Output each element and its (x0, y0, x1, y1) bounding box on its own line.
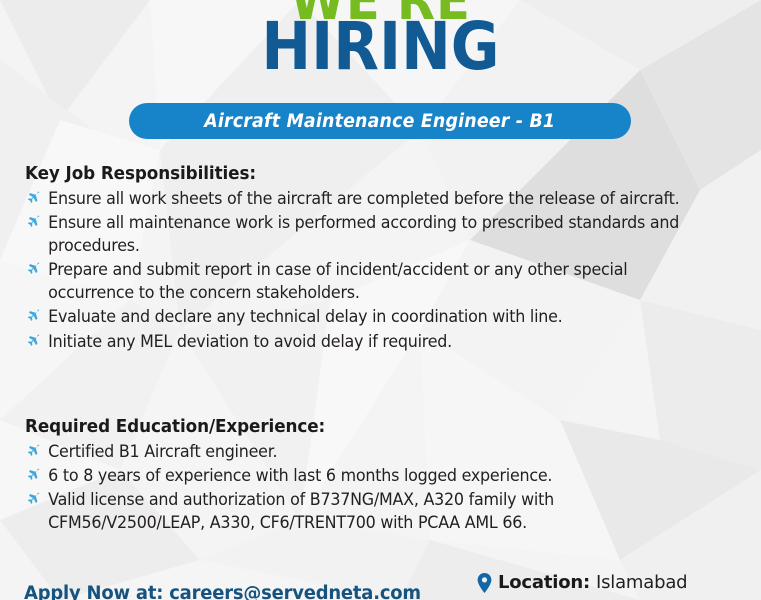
airplane-icon (26, 467, 41, 483)
section-heading: Key Job Responsibilities: (25, 164, 709, 184)
list-item: Ensure all maintenance work is performed… (25, 211, 712, 257)
job-poster: WE'RE HIRING Aircraft Maintenance Engine… (0, 0, 761, 600)
location-value: Islamabad (596, 572, 687, 593)
list-item-text: Ensure all work sheets of the aircraft a… (48, 189, 679, 208)
airplane-icon (26, 333, 41, 349)
airplane-icon (26, 190, 41, 206)
airplane-icon (26, 491, 41, 507)
list-item: Evaluate and declare any technical delay… (25, 305, 712, 328)
airplane-icon (26, 214, 41, 230)
responsibilities-list: Ensure all work sheets of the aircraft a… (25, 187, 737, 353)
list-item-text: Valid license and authorization of B737N… (48, 490, 554, 532)
airplane-icon (26, 308, 41, 324)
education-list: Certified B1 Aircraft engineer. 6 to 8 y… (25, 440, 737, 534)
role-banner-label: Aircraft Maintenance Engineer - B1 (204, 111, 555, 132)
list-item: Ensure all work sheets of the aircraft a… (25, 187, 712, 210)
map-pin-icon (477, 573, 492, 593)
section-heading: Required Education/Experience: (25, 417, 709, 437)
location-info: Location: Islamabad (477, 572, 687, 593)
page-title: HIRING (38, 14, 723, 80)
role-banner: Aircraft Maintenance Engineer - B1 (129, 103, 631, 139)
list-item-text: Certified B1 Aircraft engineer. (48, 442, 277, 461)
list-item-text: Ensure all maintenance work is performed… (48, 213, 679, 255)
apply-now-text[interactable]: Apply Now at: careers@servedneta.com (24, 583, 421, 600)
list-item-text: Initiate any MEL deviation to avoid dela… (48, 332, 452, 351)
section-required-education-experience: Required Education/Experience: Certified… (25, 417, 737, 535)
list-item: Initiate any MEL deviation to avoid dela… (25, 330, 712, 353)
location-label: Location: (498, 572, 590, 593)
list-item: Prepare and submit report in case of inc… (25, 258, 712, 304)
list-item-text: Evaluate and declare any technical delay… (48, 307, 562, 326)
list-item: 6 to 8 years of experience with last 6 m… (25, 464, 712, 487)
airplane-icon (26, 261, 41, 277)
list-item-text: 6 to 8 years of experience with last 6 m… (48, 466, 552, 485)
airplane-icon (26, 443, 41, 459)
section-key-job-responsibilities: Key Job Responsibilities: Ensure all wor… (25, 164, 737, 354)
list-item-text: Prepare and submit report in case of inc… (48, 260, 627, 302)
list-item: Valid license and authorization of B737N… (25, 488, 712, 534)
list-item: Certified B1 Aircraft engineer. (25, 440, 712, 463)
